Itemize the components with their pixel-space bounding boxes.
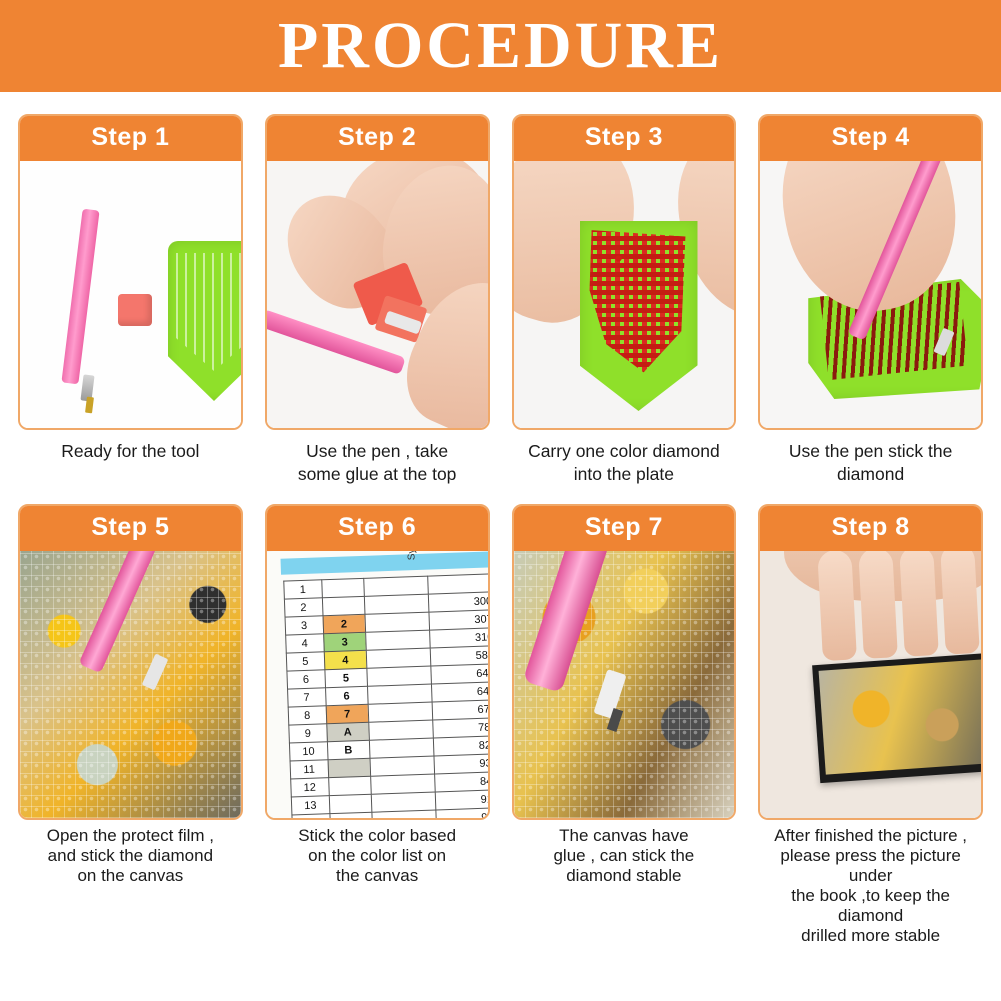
step-1-caption: Ready for the tool <box>59 440 201 463</box>
chart-row-number: 3 <box>285 616 323 635</box>
chart-row-code: 646 <box>431 664 488 684</box>
diamonds-in-tray-illustration <box>514 161 735 428</box>
chart-row-number: 6 <box>287 670 325 689</box>
step-3-header: Step 3 <box>514 116 735 161</box>
chart-row-swatch <box>366 648 431 668</box>
step-1-header: Step 1 <box>20 116 241 161</box>
step-7-card: Step 7 <box>512 504 737 820</box>
chart-row-code: 822 <box>433 736 487 756</box>
finished-picture-art <box>819 659 981 774</box>
chart-row-symbol: 5 <box>324 668 367 687</box>
step-3-caption: Carry one color diamond into the plate <box>526 440 722 486</box>
step-card-1: Step 1 Ready for the tool <box>18 114 243 486</box>
chart-row-symbol <box>329 812 372 818</box>
chart-row-swatch <box>364 594 429 614</box>
color-chart-table: 123003230743310545816564676648876769A780… <box>283 573 487 818</box>
step-4-caption: Use the pen stick the diamond <box>787 440 954 486</box>
step-3-image <box>514 161 735 428</box>
step-6-header: Step 6 <box>267 506 488 551</box>
step-card-7: Step 7 The canvas have glue , can stick … <box>512 504 737 946</box>
fingers-group <box>817 551 980 661</box>
sheet-top-band <box>280 551 487 575</box>
step-card-2: Step 2 Use the pen , take some glue at t… <box>265 114 490 486</box>
step-card-3: Step 3 Carry one color diamond into the … <box>512 114 737 486</box>
step-3-card: Step 3 <box>512 114 737 430</box>
chart-row-number: 13 <box>291 796 329 815</box>
step-2-image <box>267 161 488 428</box>
chart-row-swatch <box>370 756 435 776</box>
chart-row-code: 307 <box>429 610 488 630</box>
finger-icon <box>940 551 980 655</box>
glue-pickup-illustration <box>267 161 488 428</box>
chart-row-symbol: B <box>327 740 370 759</box>
glued-canvas-illustration <box>514 551 735 818</box>
chart-row-symbol <box>321 578 364 597</box>
step-7-header: Step 7 <box>514 506 735 551</box>
finger-icon <box>858 551 898 659</box>
procedure-infographic: PROCEDURE Step 1 Ready for the tool <box>0 0 1001 1001</box>
chart-row-swatch <box>368 702 433 722</box>
chart-row-symbol <box>327 758 370 777</box>
chart-row-symbol: 7 <box>325 704 368 723</box>
step-4-image <box>760 161 981 428</box>
step-2-header: Step 2 <box>267 116 488 161</box>
pen-nib-icon <box>85 397 94 414</box>
chart-row-swatch <box>368 720 433 740</box>
chart-row-number: 4 <box>285 634 323 653</box>
chart-row-swatch <box>366 666 431 686</box>
color-chart-sheet: Symbol 123003230743310545816564676648876… <box>267 551 488 818</box>
finger-icon <box>817 551 857 661</box>
chart-row-code: 581 <box>430 646 488 666</box>
step-4-card: Step 4 <box>758 114 983 430</box>
pick-diamond-illustration <box>760 161 981 428</box>
chart-column-header: Symbol <box>405 551 417 560</box>
chart-row-number: 1 <box>284 580 322 599</box>
chart-row-code: 676 <box>432 700 488 720</box>
chart-row-number: 8 <box>288 706 326 725</box>
chart-row-code: 916 <box>435 790 488 810</box>
step-2-caption: Use the pen , take some glue at the top <box>296 440 459 486</box>
chart-row-code: 300 <box>428 592 487 612</box>
finger-icon <box>899 551 939 657</box>
page-title: PROCEDURE <box>278 13 723 79</box>
chart-row-swatch <box>370 774 435 794</box>
chart-row-number: 7 <box>287 688 325 707</box>
chart-row-number: 11 <box>290 760 328 779</box>
press-picture-illustration <box>760 551 981 818</box>
page-banner: PROCEDURE <box>0 0 1001 92</box>
step-card-5: Step 5 Open the protect film , and stick… <box>18 504 243 946</box>
step-8-header: Step 8 <box>760 506 981 551</box>
chart-row-code: 780 <box>432 718 487 738</box>
step-2-card: Step 2 <box>265 114 490 430</box>
chart-row-symbol: 4 <box>324 650 367 669</box>
chart-row-swatch <box>371 792 436 812</box>
chart-row-swatch <box>369 738 434 758</box>
chart-row-number: 10 <box>289 742 327 761</box>
color-chart-body: 123003230743310545816564676648876769A780… <box>284 574 488 818</box>
step-7-caption: The canvas have glue , can stick the dia… <box>551 826 696 886</box>
step-5-card: Step 5 <box>18 504 243 820</box>
steps-grid: Step 1 Ready for the tool Step 2 <box>0 114 1001 946</box>
step-5-header: Step 5 <box>20 506 241 551</box>
chart-row-code: 844 <box>434 772 487 792</box>
chart-row-number: 5 <box>286 652 324 671</box>
chart-row-symbol: A <box>326 722 369 741</box>
chart-row-code: 310 <box>429 628 487 648</box>
chart-row-symbol: 3 <box>323 632 366 651</box>
step-card-6: Step 6 Symbol 12300323074331054581656467… <box>265 504 490 946</box>
chart-row-number: 12 <box>290 778 328 797</box>
chart-row-code: 936 <box>434 754 488 774</box>
chart-row-code: 938 <box>436 808 488 818</box>
chart-row-swatch <box>363 576 428 596</box>
chart-row-symbol <box>322 596 365 615</box>
step-5-image <box>20 551 241 818</box>
step-6-card: Step 6 Symbol 12300323074331054581656467… <box>265 504 490 820</box>
step-6-caption: Stick the color based on the color list … <box>296 826 458 886</box>
step-1-image <box>20 161 241 428</box>
wax-block-icon <box>118 294 152 326</box>
chart-row-code: 648 <box>431 682 487 702</box>
pen-body-icon <box>61 209 99 385</box>
step-8-caption: After finished the picture , please pres… <box>758 826 983 946</box>
chart-row-code <box>427 574 487 594</box>
step-card-4: Step 4 Use the pen stick the diamond <box>758 114 983 486</box>
step-4-header: Step 4 <box>760 116 981 161</box>
chart-row-number: 9 <box>289 724 327 743</box>
canvas-illustration <box>20 551 241 818</box>
step-6-image: Symbol 123003230743310545816564676648876… <box>267 551 488 818</box>
step-1-card: Step 1 <box>18 114 243 430</box>
chart-row-symbol <box>329 794 372 813</box>
chart-row-swatch <box>365 630 430 650</box>
step-card-8: Step 8 After finished <box>758 504 983 946</box>
step-8-card: Step 8 <box>758 504 983 820</box>
step-5-caption: Open the protect film , and stick the di… <box>45 826 216 886</box>
chart-row-swatch <box>367 684 432 704</box>
chart-row-swatch <box>372 810 437 818</box>
chart-row-number: 14 <box>292 814 330 818</box>
step-8-image <box>760 551 981 818</box>
chart-row-symbol <box>328 776 371 795</box>
tools-illustration <box>20 161 241 428</box>
chart-row-swatch <box>365 612 430 632</box>
chart-row-symbol: 2 <box>322 614 365 633</box>
chart-row-symbol: 6 <box>325 686 368 705</box>
step-7-image <box>514 551 735 818</box>
chart-row-number: 2 <box>284 598 322 617</box>
